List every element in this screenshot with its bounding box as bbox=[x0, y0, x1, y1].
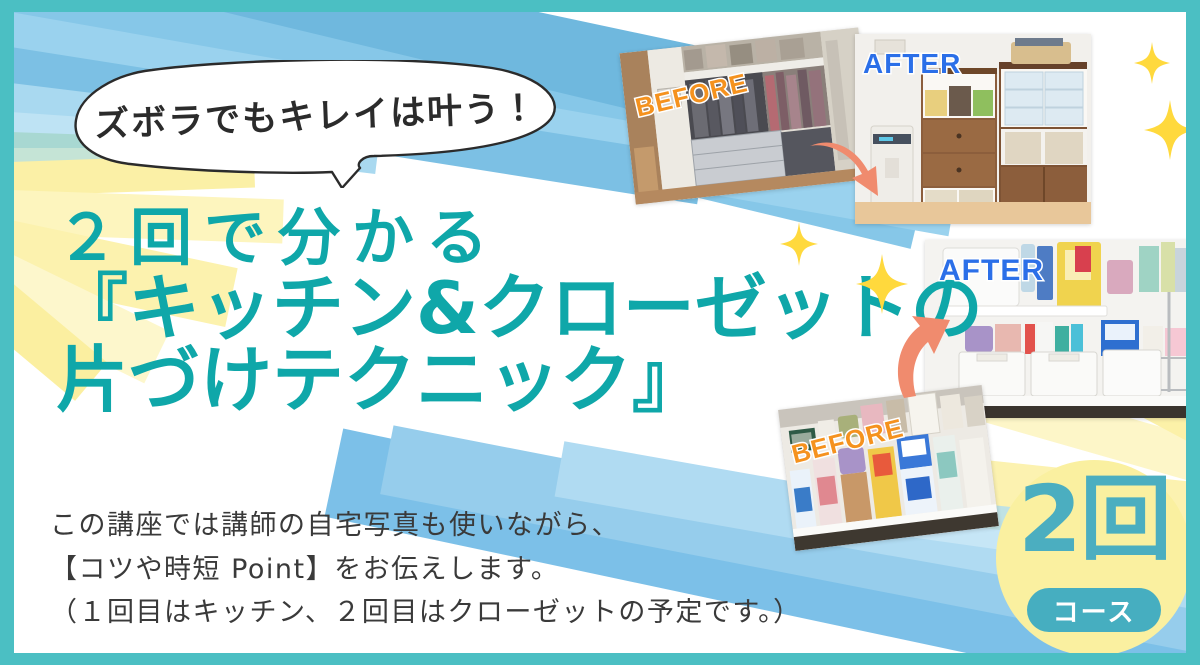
badge-pill-label: コース bbox=[1053, 592, 1136, 629]
photo-closet-after: AFTER bbox=[855, 34, 1091, 224]
title-line-3: 片づけテクニック』 bbox=[56, 345, 886, 416]
speech-bubble: ズボラでもキレイは叶う！ bbox=[56, 60, 576, 188]
speech-bubble-text: ズボラでもキレイは叶う！ bbox=[54, 50, 578, 176]
title-line-1: ２回で分かる bbox=[56, 208, 886, 269]
page-title: ２回で分かる 『キッチン&クローゼットの 片づけテクニック』 bbox=[56, 208, 886, 416]
photo-closet-before: BEFORE bbox=[619, 27, 874, 204]
description-line-3: （１回目はキッチン、２回目はクローゼットの予定です。） bbox=[50, 591, 870, 635]
description-block: この講座では講師の自宅写真も使いながら、 【コツや時短 Point】をお伝えしま… bbox=[50, 504, 870, 635]
course-badge: 2回 コース bbox=[996, 460, 1186, 653]
title-line-2: 『キッチン&クローゼットの bbox=[56, 273, 886, 344]
badge-count: 2回 bbox=[996, 474, 1186, 566]
description-line-2: 【コツや時短 Point】をお伝えします。 bbox=[50, 548, 870, 592]
photo-closet-before-art bbox=[619, 27, 874, 204]
banner-canvas: BEFORE bbox=[14, 12, 1186, 653]
banner-root: BEFORE bbox=[0, 0, 1200, 665]
sparkle-icon-1 bbox=[1134, 42, 1170, 84]
description-line-1: この講座では講師の自宅写真も使いながら、 bbox=[50, 504, 870, 548]
sparkle-icon-2 bbox=[1144, 100, 1186, 160]
photo-closet-after-art bbox=[855, 34, 1091, 224]
badge-pill: コース bbox=[1027, 588, 1161, 632]
